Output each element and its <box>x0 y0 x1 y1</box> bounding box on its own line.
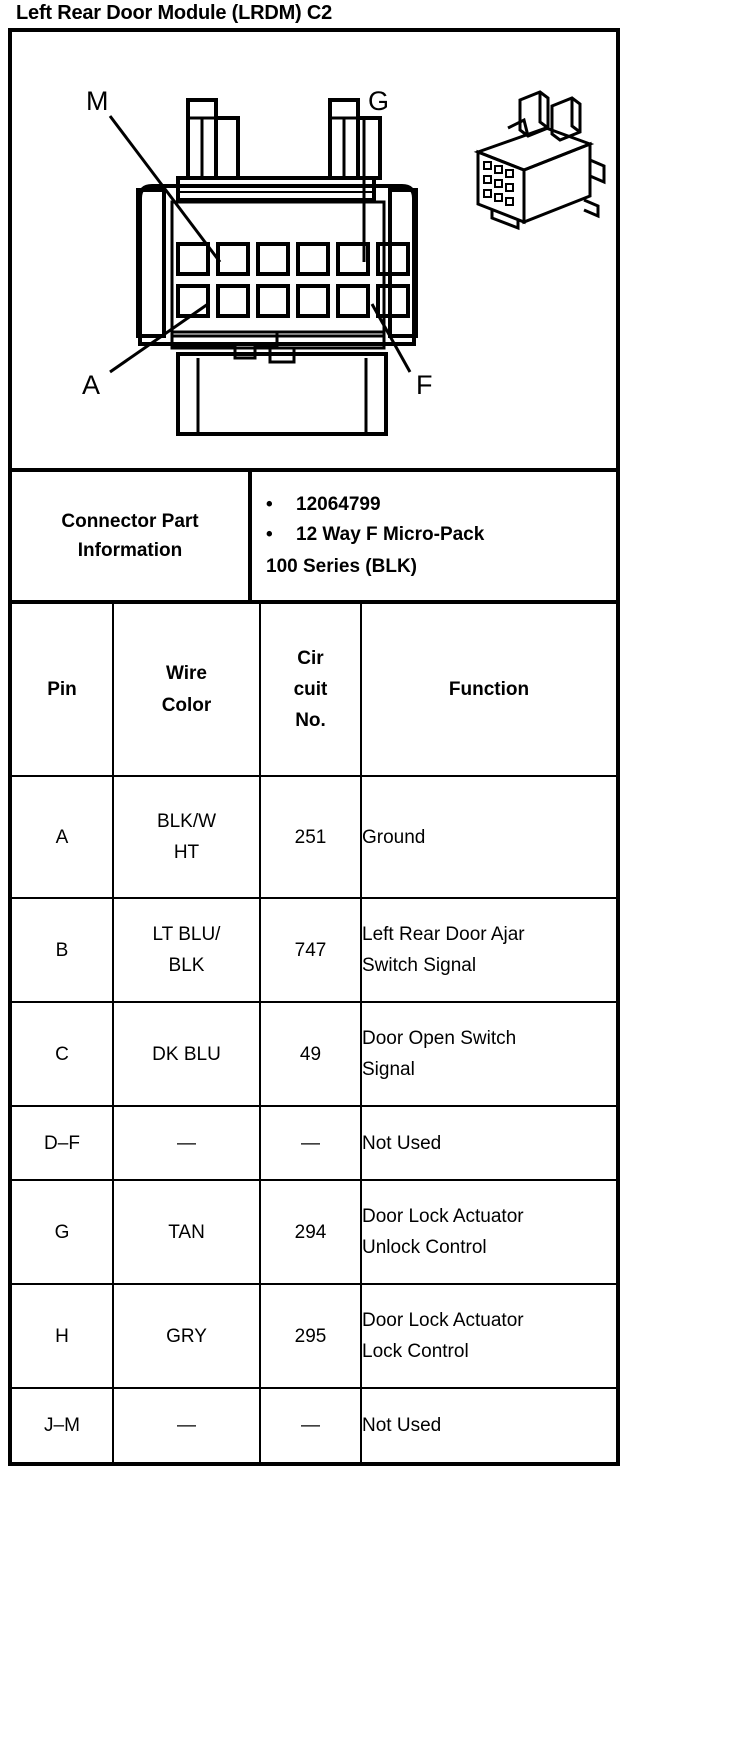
table-header-row: Pin Wire Color Cir cuit No. Function <box>12 604 616 776</box>
cell-pin: H <box>12 1284 113 1388</box>
function-line2: Unlock Control <box>362 1232 616 1263</box>
bullet-icon: • <box>266 490 296 520</box>
table-row: A BLK/W HT 251 Ground <box>12 776 616 898</box>
connector-description-value: 12 Way F Micro-Pack <box>296 520 604 550</box>
function-line2: Switch Signal <box>362 950 616 981</box>
circuit-no-value: 251 <box>295 827 327 848</box>
connector-reference-page: Left Rear Door Module (LRDM) C2 <box>0 0 736 1750</box>
page-title: Left Rear Door Module (LRDM) C2 <box>16 2 332 25</box>
pin-value: H <box>55 1326 69 1347</box>
cell-wire-color: — <box>113 1388 260 1462</box>
pin-assignment-table: Pin Wire Color Cir cuit No. Function <box>12 604 616 1462</box>
pin-value: B <box>56 940 69 961</box>
column-header-circuit-line3: No. <box>261 705 360 736</box>
table-row: C DK BLU 49 Door Open Switch Signal <box>12 1002 616 1106</box>
function-line1: Left Rear Door Ajar <box>362 919 616 950</box>
function-line1: Door Lock Actuator <box>362 1305 616 1336</box>
column-header-wire-line2: Color <box>114 690 259 721</box>
cell-pin: J–M <box>12 1388 113 1462</box>
wire-color-line1: TAN <box>168 1222 205 1243</box>
pin-value: D–F <box>44 1133 80 1154</box>
column-header-circuit-line1: Cir <box>261 643 360 674</box>
cell-function: Ground <box>361 776 616 898</box>
pin-value: J–M <box>44 1415 80 1436</box>
cell-function: Not Used <box>361 1388 616 1462</box>
wire-color-line1: — <box>177 1415 196 1436</box>
callout-label-m: M <box>86 86 109 116</box>
circuit-no-value: 294 <box>295 1222 327 1243</box>
connector-face-diagram: M G A F <box>12 32 616 468</box>
column-header-function: Function <box>361 604 616 776</box>
connector-figure-panel: M G A F <box>12 32 616 472</box>
connector-part-information-row: Connector Part Information • 12064799 • … <box>12 472 616 604</box>
cell-pin: C <box>12 1002 113 1106</box>
table-row: H GRY 295 Door Lock Actuator Lock Contro… <box>12 1284 616 1388</box>
connector-part-information-value: • 12064799 • 12 Way F Micro-Pack 100 Ser… <box>252 472 616 600</box>
wire-color-line2: BLK <box>114 950 259 981</box>
cell-wire-color: DK BLU <box>113 1002 260 1106</box>
pin-value: C <box>55 1044 69 1065</box>
cell-function: Not Used <box>361 1106 616 1180</box>
function-line1: Not Used <box>362 1128 616 1159</box>
cell-function: Door Lock Actuator Lock Control <box>361 1284 616 1388</box>
function-line1: Ground <box>362 822 616 853</box>
connector-description-continuation: 100 Series (BLK) <box>266 552 604 582</box>
cell-function: Door Open Switch Signal <box>361 1002 616 1106</box>
cell-wire-color: GRY <box>113 1284 260 1388</box>
part-info-bullet-item: • 12 Way F Micro-Pack <box>266 520 604 550</box>
function-line2: Signal <box>362 1054 616 1085</box>
cell-pin: G <box>12 1180 113 1284</box>
circuit-no-value: 295 <box>295 1326 327 1347</box>
function-line2: Lock Control <box>362 1336 616 1367</box>
wire-color-line1: DK BLU <box>114 1039 259 1070</box>
wire-color-line1: BLK/W <box>114 806 259 837</box>
column-header-circuit-no: Cir cuit No. <box>260 604 361 776</box>
connector-info-frame: M G A F Connector Part Information • 120… <box>8 28 620 1466</box>
part-info-label-line1: Connector Part <box>61 507 198 536</box>
column-header-wire-line1: Wire <box>114 658 259 689</box>
wire-color-line2: HT <box>114 837 259 868</box>
cell-circuit-no: 747 <box>260 898 361 1002</box>
callout-label-g: G <box>368 86 389 116</box>
cell-circuit-no: — <box>260 1388 361 1462</box>
part-number-value: 12064799 <box>296 490 604 520</box>
cell-circuit-no: 295 <box>260 1284 361 1388</box>
function-line1: Door Open Switch <box>362 1023 616 1054</box>
cell-wire-color: — <box>113 1106 260 1180</box>
part-info-bullet-item: • 12064799 <box>266 490 604 520</box>
cell-circuit-no: 294 <box>260 1180 361 1284</box>
circuit-no-value: — <box>301 1415 320 1436</box>
column-header-circuit-line2: cuit <box>261 674 360 705</box>
callout-label-a: A <box>82 370 100 400</box>
wire-color-line1: — <box>177 1133 196 1154</box>
wire-color-line1: GRY <box>166 1326 207 1347</box>
column-header-wire-color: Wire Color <box>113 604 260 776</box>
cell-circuit-no: 49 <box>260 1002 361 1106</box>
function-line1: Not Used <box>362 1410 616 1441</box>
cell-wire-color: BLK/W HT <box>113 776 260 898</box>
connector-part-information-label: Connector Part Information <box>12 472 252 600</box>
cell-pin: B <box>12 898 113 1002</box>
cell-pin: A <box>12 776 113 898</box>
circuit-no-value: 49 <box>300 1044 321 1065</box>
bullet-icon: • <box>266 520 296 550</box>
function-line1: Door Lock Actuator <box>362 1201 616 1232</box>
cell-wire-color: TAN <box>113 1180 260 1284</box>
callout-label-f: F <box>416 370 433 400</box>
pin-value: A <box>56 827 69 848</box>
column-header-function-label: Function <box>449 679 529 700</box>
table-row: J–M — — Not Used <box>12 1388 616 1462</box>
cell-function: Door Lock Actuator Unlock Control <box>361 1180 616 1284</box>
pin-value: G <box>55 1222 70 1243</box>
circuit-no-value: — <box>301 1133 320 1154</box>
table-row: D–F — — Not Used <box>12 1106 616 1180</box>
wire-color-line1: LT BLU/ <box>114 919 259 950</box>
column-header-pin-label: Pin <box>47 679 77 700</box>
part-info-label-line2: Information <box>61 536 198 565</box>
table-row: B LT BLU/ BLK 747 Left Rear Door Ajar Sw… <box>12 898 616 1002</box>
cell-circuit-no: 251 <box>260 776 361 898</box>
cell-function: Left Rear Door Ajar Switch Signal <box>361 898 616 1002</box>
cell-wire-color: LT BLU/ BLK <box>113 898 260 1002</box>
column-header-pin: Pin <box>12 604 113 776</box>
cell-circuit-no: — <box>260 1106 361 1180</box>
circuit-no-value: 747 <box>295 940 327 961</box>
table-row: G TAN 294 Door Lock Actuator Unlock Cont… <box>12 1180 616 1284</box>
cell-pin: D–F <box>12 1106 113 1180</box>
